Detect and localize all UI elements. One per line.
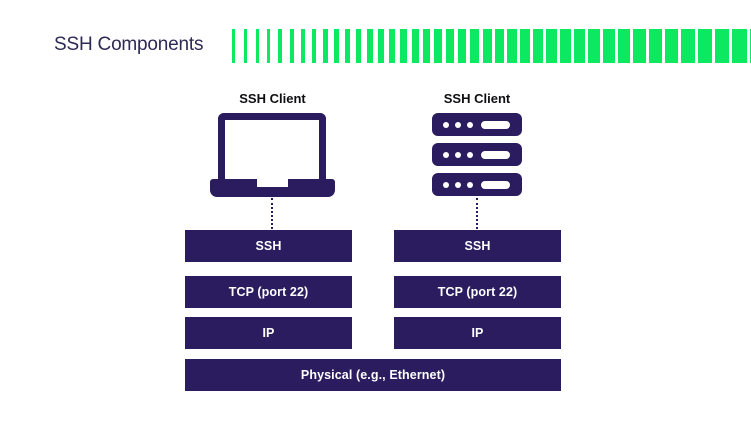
laptop-icon — [210, 113, 335, 197]
server-led-dot — [467, 152, 473, 158]
server-slot-bar — [481, 151, 510, 159]
server-unit — [432, 113, 522, 136]
server-led-dot — [455, 122, 461, 128]
stack-layer-ssh-right: SSH — [394, 230, 561, 262]
stack-layer-ssh-left: SSH — [185, 230, 352, 262]
server-led-dot — [443, 182, 449, 188]
ssh-client-label-right: SSH Client — [412, 91, 542, 106]
server-slot-bar — [481, 121, 510, 129]
ssh-components-diagram: SSH Client SSH Client SSH TCP (po — [0, 0, 751, 435]
server-unit — [432, 143, 522, 166]
stack-layer-ip-right: IP — [394, 317, 561, 349]
stack-layer-ip-left: IP — [185, 317, 352, 349]
stack-layer-tcp-left: TCP (port 22) — [185, 276, 352, 308]
server-led-dot — [455, 182, 461, 188]
laptop-trackpad-notch — [257, 179, 288, 187]
server-led-dot — [467, 122, 473, 128]
laptop-screen-shape — [218, 113, 326, 181]
server-led-dot — [467, 182, 473, 188]
server-slot-bar — [481, 181, 510, 189]
server-led-dot — [455, 152, 461, 158]
stack-layer-tcp-right: TCP (port 22) — [394, 276, 561, 308]
server-icon — [432, 113, 522, 197]
server-unit — [432, 173, 522, 196]
connector-line-right — [476, 198, 478, 229]
stack-layer-physical: Physical (e.g., Ethernet) — [185, 359, 561, 391]
ssh-client-label-left: SSH Client — [210, 91, 335, 106]
connector-line-left — [271, 198, 273, 229]
server-led-dot — [443, 122, 449, 128]
server-led-dot — [443, 152, 449, 158]
